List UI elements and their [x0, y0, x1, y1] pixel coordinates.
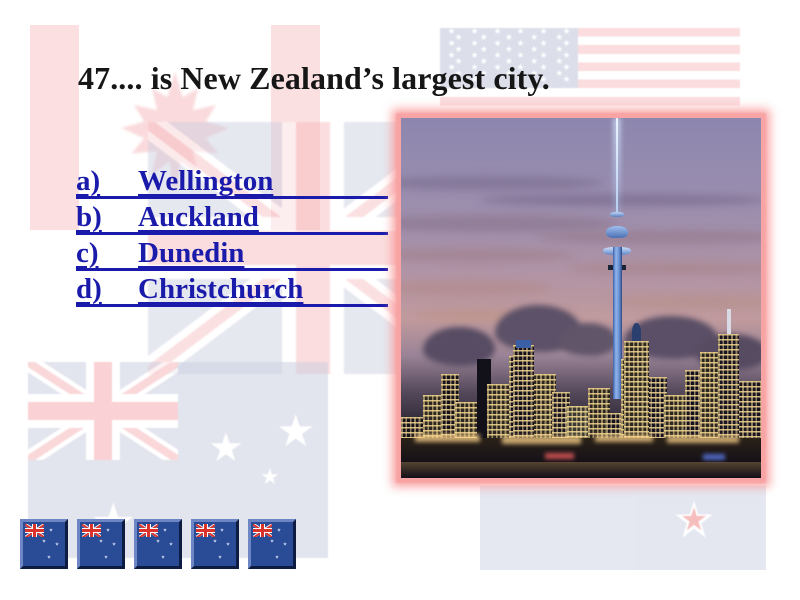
option-underline [76, 196, 388, 199]
southern-cross-star-icon: ★ [208, 428, 244, 468]
canada-flag-left-band [30, 25, 79, 230]
southern-cross-star-icon: ★ [276, 410, 315, 454]
southern-cross-star-icon [156, 539, 160, 543]
union-jack-icon [139, 524, 158, 537]
option-letter: b) [76, 201, 138, 234]
australia-flag-canton [28, 362, 178, 460]
option-label: Auckland [138, 201, 259, 234]
southern-cross-star-icon [104, 555, 108, 559]
southern-cross-star-icon [106, 528, 110, 532]
union-jack-icon [25, 524, 44, 537]
quiz-slide: ★★★★★★ ★★★★★ ★★★★★★ ★★★★★ ★★★★★★ ★★★★★ ★… [0, 0, 800, 600]
southern-cross-star-icon [220, 528, 224, 532]
option-letter: c) [76, 237, 138, 270]
southern-cross-star-icon [163, 528, 167, 532]
union-jack-icon [253, 524, 272, 537]
answer-option-a[interactable]: a) Wellington [76, 165, 384, 201]
southern-cross-star-icon [49, 528, 53, 532]
auckland-skyline-photo [397, 114, 765, 482]
new-zealand-flag-icon [248, 519, 296, 569]
option-letter: a) [76, 165, 138, 198]
answer-option-b[interactable]: b) Auckland [76, 201, 384, 237]
southern-cross-star-icon [277, 528, 281, 532]
answer-options-list: a) Wellington b) Auckland c) Dunedin d) … [76, 165, 384, 309]
new-zealand-flag-icon-row [20, 519, 296, 569]
option-underline [76, 304, 388, 307]
southern-cross-star-icon [213, 539, 217, 543]
new-zealand-flag-watermark [480, 486, 766, 570]
new-zealand-flag-icon [134, 519, 182, 569]
southern-cross-star-icon [161, 555, 165, 559]
option-underline [76, 268, 388, 271]
southern-cross-star-icon [218, 555, 222, 559]
southern-cross-star-icon [283, 542, 287, 546]
southern-cross-star-icon [275, 555, 279, 559]
option-letter: d) [76, 273, 138, 306]
answer-option-d[interactable]: d) Christchurch [76, 273, 384, 309]
southern-cross-star-icon [226, 542, 230, 546]
southern-cross-star-icon [99, 539, 103, 543]
union-jack-icon [82, 524, 101, 537]
auckland-skyline-image [401, 118, 761, 478]
southern-cross-star-icon [270, 539, 274, 543]
southern-cross-star-icon: ★ [260, 466, 280, 488]
option-label: Dunedin [138, 237, 244, 270]
answer-option-c[interactable]: c) Dunedin [76, 237, 384, 273]
new-zealand-flag-icon [77, 519, 125, 569]
union-jack-icon [196, 524, 215, 537]
new-zealand-flag-icon [191, 519, 239, 569]
southern-cross-star-icon [169, 542, 173, 546]
option-label: Christchurch [138, 273, 303, 306]
southern-cross-star-icon [47, 555, 51, 559]
southern-cross-star-icon [674, 500, 714, 540]
new-zealand-flag-icon [20, 519, 68, 569]
southern-cross-star-icon [42, 539, 46, 543]
southern-cross-star-icon [112, 542, 116, 546]
option-underline [76, 232, 388, 235]
option-label: Wellington [138, 165, 273, 198]
southern-cross-star-icon [55, 542, 59, 546]
page-title: 47.... is New Zealand’s largest city. [78, 60, 718, 97]
